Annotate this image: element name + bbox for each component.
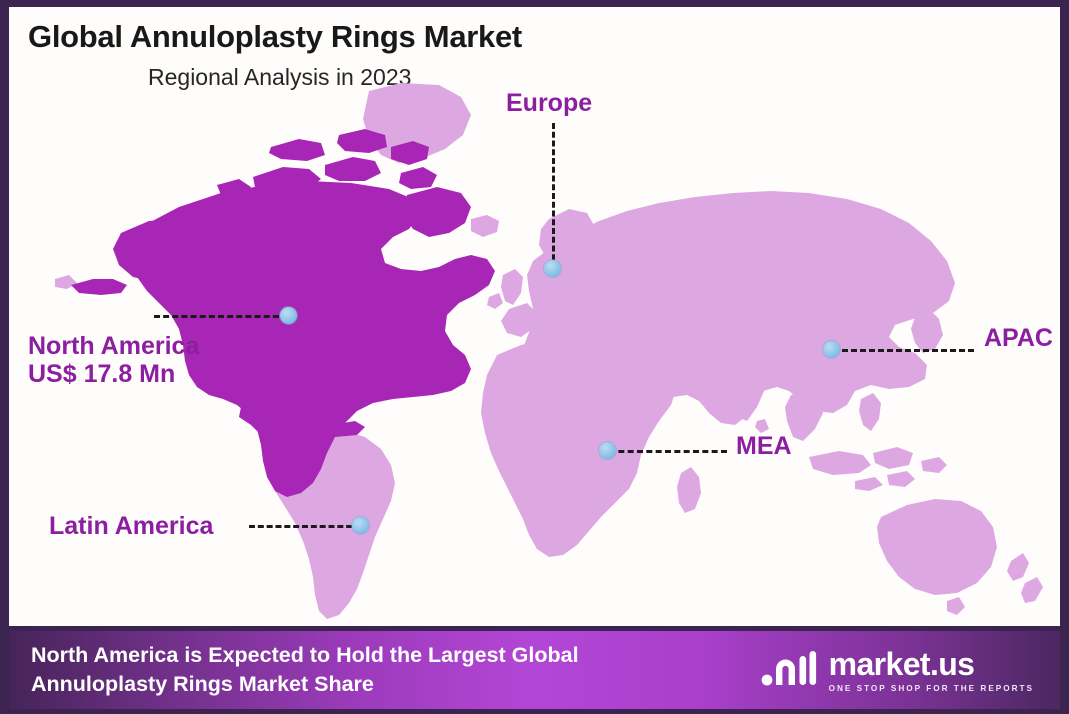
callout-apac-label: APAC bbox=[984, 324, 1053, 352]
callout-latin-america-label: Latin America bbox=[49, 512, 213, 540]
region-new-zealand bbox=[1007, 553, 1043, 603]
callout-north-america-label: North America bbox=[28, 332, 199, 360]
region-philippines bbox=[859, 393, 881, 431]
footer-banner-line-2: Annuloplasty Rings Market Share bbox=[31, 670, 579, 699]
map-marker-europe[interactable] bbox=[544, 260, 561, 277]
leader-line-mea bbox=[609, 450, 727, 453]
callout-north-america: North America US$ 17.8 Mn bbox=[28, 332, 199, 389]
market-us-logo-icon bbox=[760, 647, 820, 694]
region-tasmania bbox=[947, 597, 965, 615]
callout-mea: MEA bbox=[736, 432, 792, 460]
market-us-logo[interactable]: market.us ONE STOP SHOP FOR THE REPORTS bbox=[760, 647, 1060, 694]
region-australia bbox=[877, 499, 997, 595]
leader-line-europe bbox=[552, 123, 555, 269]
callout-apac: APAC bbox=[984, 324, 1053, 352]
map-marker-latin-america[interactable] bbox=[352, 517, 369, 534]
region-eastern-canada bbox=[403, 187, 471, 237]
callout-europe: Europe bbox=[506, 89, 592, 117]
leader-line-north-america bbox=[154, 315, 288, 318]
region-iceland bbox=[471, 215, 499, 237]
callout-mea-label: MEA bbox=[736, 432, 792, 460]
callout-latin-america: Latin America bbox=[49, 512, 213, 540]
map-canvas: Global Annuloplasty Rings Market Regiona… bbox=[9, 7, 1060, 633]
logo-wordmark: market.us bbox=[829, 648, 1034, 680]
page-title: Global Annuloplasty Rings Market bbox=[28, 19, 522, 55]
map-marker-north-america[interactable] bbox=[280, 307, 297, 324]
market-us-logo-text: market.us ONE STOP SHOP FOR THE REPORTS bbox=[829, 648, 1034, 693]
map-marker-mea[interactable] bbox=[599, 442, 616, 459]
callout-north-america-value: US$ 17.8 Mn bbox=[28, 360, 199, 388]
footer-banner: North America is Expected to Hold the La… bbox=[9, 626, 1060, 714]
callout-europe-label: Europe bbox=[506, 89, 592, 117]
region-aleutians bbox=[71, 279, 127, 295]
map-marker-apac[interactable] bbox=[823, 341, 840, 358]
footer-banner-text: North America is Expected to Hold the La… bbox=[9, 641, 579, 698]
region-sri-lanka bbox=[755, 419, 769, 433]
region-madagascar bbox=[677, 467, 701, 513]
leader-line-latin-america bbox=[249, 525, 361, 528]
footer-banner-line-1: North America is Expected to Hold the La… bbox=[31, 641, 579, 670]
leader-line-apac bbox=[833, 349, 974, 352]
logo-tagline: ONE STOP SHOP FOR THE REPORTS bbox=[829, 684, 1034, 693]
infographic-root: Global Annuloplasty Rings Market Regiona… bbox=[0, 0, 1069, 714]
region-indonesia bbox=[809, 447, 947, 491]
